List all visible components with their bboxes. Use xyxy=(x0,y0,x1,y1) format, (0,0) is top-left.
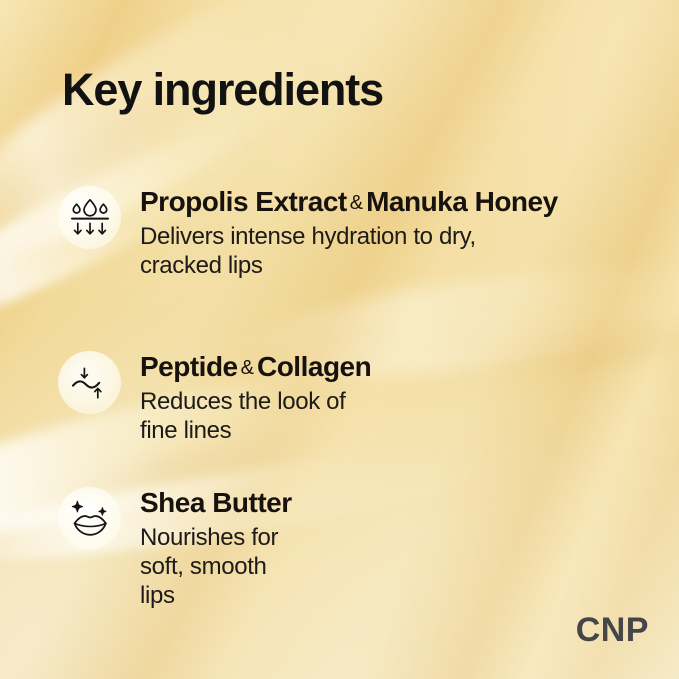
ingredient-item: Shea Butter Nourishes for soft, smooth l… xyxy=(58,487,298,610)
ingredient-name-separator: & xyxy=(238,357,257,379)
ingredient-name-primary: Shea Butter xyxy=(140,487,292,518)
sparkling-lips-icon xyxy=(58,487,121,550)
ingredient-text: Propolis Extract&Manuka Honey Delivers i… xyxy=(140,186,558,280)
ingredient-name-secondary: Manuka Honey xyxy=(366,186,558,217)
ingredient-description: Reduces the look of fine lines xyxy=(140,387,371,446)
ingredient-name: Peptide&Collagen xyxy=(140,352,371,382)
ingredient-name-secondary: Collagen xyxy=(257,351,371,382)
brand-logo: CNP xyxy=(576,611,649,650)
ingredient-name: Shea Butter xyxy=(140,488,298,518)
key-ingredients-panel: Key ingredients xyxy=(0,0,679,679)
smoothing-wave-icon xyxy=(58,351,121,414)
ingredient-name: Propolis Extract&Manuka Honey xyxy=(140,187,558,217)
ingredient-name-primary: Propolis Extract xyxy=(140,186,347,217)
ingredient-description: Nourishes for soft, smooth lips xyxy=(140,523,298,611)
ingredient-description: Delivers intense hydration to dry, crack… xyxy=(140,222,558,281)
ingredient-text: Shea Butter Nourishes for soft, smooth l… xyxy=(140,487,298,610)
ingredient-item: Propolis Extract&Manuka Honey Delivers i… xyxy=(58,186,558,280)
ingredient-item: Peptide&Collagen Reduces the look of fin… xyxy=(58,351,371,445)
ingredient-name-primary: Peptide xyxy=(140,351,238,382)
ingredient-name-separator xyxy=(292,493,298,515)
ingredient-name-separator: & xyxy=(347,192,366,214)
ingredient-text: Peptide&Collagen Reduces the look of fin… xyxy=(140,351,371,445)
page-title: Key ingredients xyxy=(62,64,383,116)
droplets-absorb-icon xyxy=(58,186,121,249)
